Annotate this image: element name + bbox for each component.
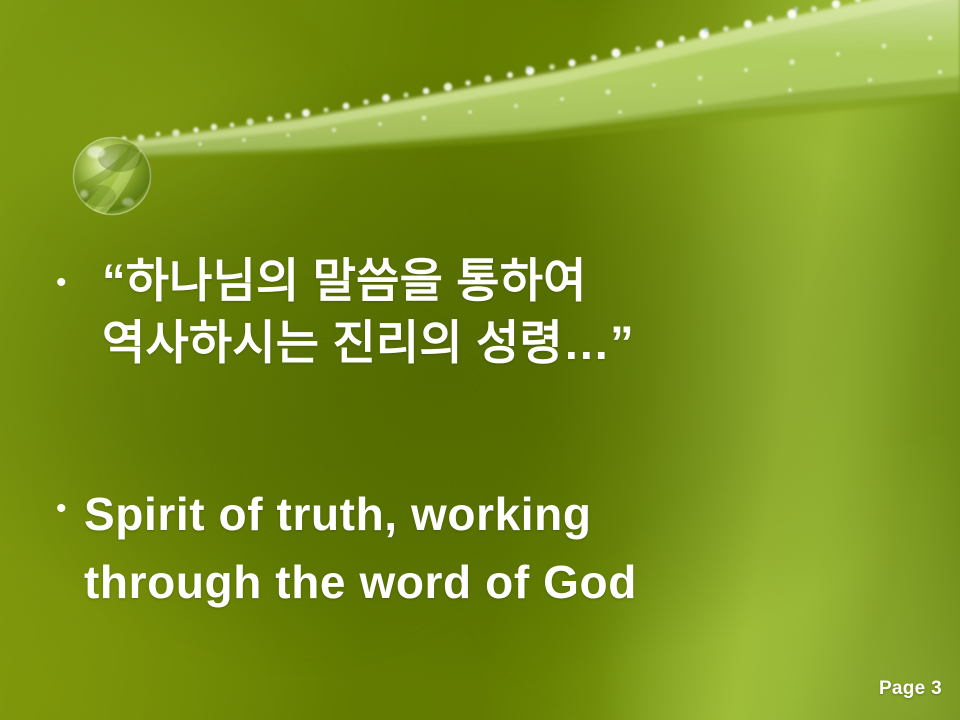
dew-drop-on-grass-blade-photo bbox=[0, 0, 960, 230]
bullet-item-korean-quote: • “하나님의 말씀을 통하여 역사하시는 진리의 성령…” bbox=[56, 250, 916, 374]
bullet-text-english-line: Spirit of truth, working through the wor… bbox=[84, 480, 936, 616]
presentation-slide: • “하나님의 말씀을 통하여 역사하시는 진리의 성령…” • Spirit … bbox=[0, 0, 960, 720]
bullet-marker-icon: • bbox=[56, 250, 102, 298]
page-number-label: Page 3 bbox=[879, 678, 942, 700]
bullet-text-korean-quote: “하나님의 말씀을 통하여 역사하시는 진리의 성령…” bbox=[102, 250, 916, 374]
bullet-item-english-line: • Spirit of truth, working through the w… bbox=[56, 480, 936, 616]
bullet-marker-icon: • bbox=[56, 480, 84, 524]
